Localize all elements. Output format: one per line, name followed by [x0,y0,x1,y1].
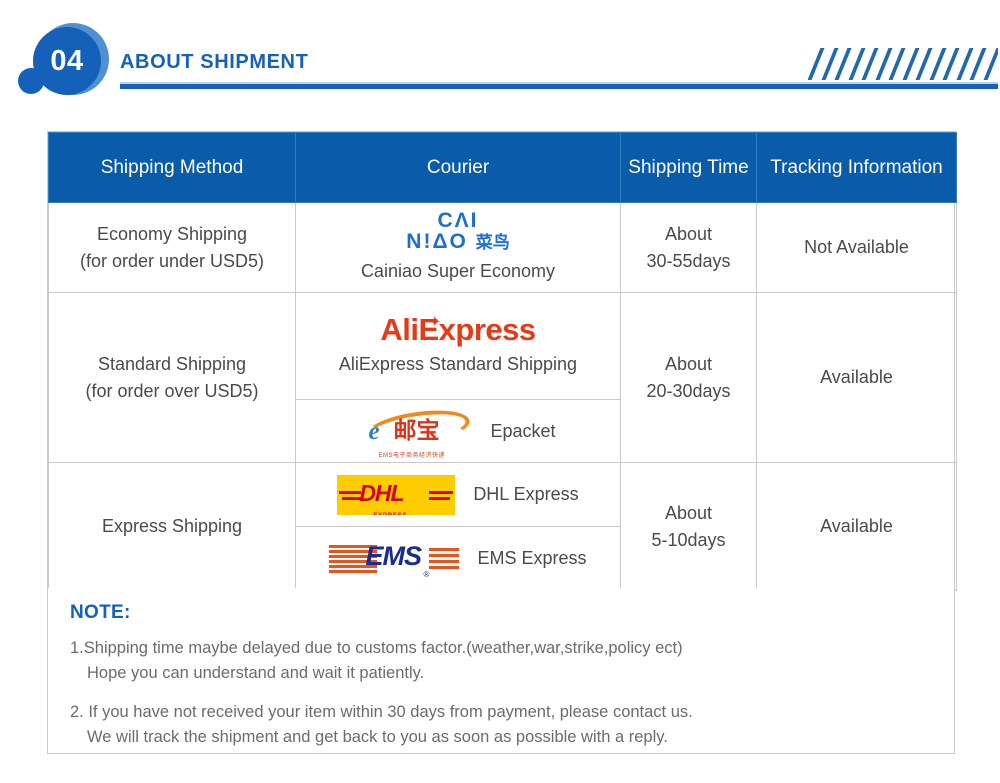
time-line2: 20-30days [621,378,756,405]
column-header-shipping-time: Shipping Time [621,133,757,203]
method-line1: Express Shipping [49,513,295,540]
courier-name: Epacket [490,418,555,445]
column-header-line2: Time [707,157,749,178]
tracking-status: Not Available [804,237,909,257]
header-rule [120,84,998,89]
ems-speedbars [429,548,459,570]
cell-courier: e 邮宝 EMS电子商务经济快递 Epacket [296,400,621,463]
aliexpress-logo-text: AliExpress [380,312,535,347]
note-item-line2: Hope you can understand and wait it pati… [70,661,934,686]
cainiao-logo-line2: N!ΔO 菜鸟 [406,231,509,252]
cainiao-logo-line1: CΛI [406,210,509,231]
note-item: 1.Shipping time maybe delayed due to cus… [70,636,934,686]
courier-name: AliExpress Standard Shipping [339,351,577,378]
courier-entry: DHL EXPRESS DHL Express [296,475,620,515]
cell-courier: DHL EXPRESS DHL Express [296,463,621,527]
column-header-label: Courier [427,157,489,178]
column-header-tracking-information: Tracking Information [757,133,957,203]
cell-shipping-time: About 20-30days [621,293,757,463]
page-title: ABOUT SHIPMENT [120,51,308,74]
courier-entry: EMS ® EMS Express [296,539,620,579]
column-header-line2: Information [848,157,943,178]
aliexpress-logo: ✦ AliExpress [380,314,535,347]
method-line2: (for order under USD5) [49,248,295,275]
note-item-line2: We will track the shipment and get back … [70,725,934,750]
tracking-status: Available [820,367,893,387]
cell-shipping-time: About 30-55days [621,203,757,293]
column-header-courier: Courier [296,133,621,203]
column-header-label: Shipping Method [101,157,244,178]
epacket-e-mark: e [368,418,379,445]
aliexpress-spark-icon: ✦ [429,315,439,328]
ems-logo: EMS ® [329,539,459,579]
column-header-line1: Shipping [628,157,702,178]
badge-inner-circle: 04 [33,27,101,95]
courier-entry: ✦ AliExpress AliExpress Standard Shippin… [296,314,620,378]
method-line2: (for order over USD5) [49,378,295,405]
ems-logo-text: EMS [365,543,421,570]
cell-shipping-method: Economy Shipping (for order under USD5) [49,203,296,293]
cell-shipping-method: Standard Shipping (for order over USD5) [49,293,296,463]
cell-tracking-information: Not Available [757,203,957,293]
time-line1: About [621,500,756,527]
cell-courier: ✦ AliExpress AliExpress Standard Shippin… [296,293,621,400]
cainiao-logo-cn: 菜鸟 [476,233,510,252]
time-line1: About [621,351,756,378]
cell-courier: EMS ® EMS Express [296,527,621,591]
note-item-line1: 1.Shipping time maybe delayed due to cus… [70,639,683,657]
table-row: Express Shipping DHL EXPRESS DHL Express [49,463,957,527]
time-line1: About [621,221,756,248]
note-title: NOTE: [70,602,934,624]
cell-courier: CΛI N!ΔO 菜鸟 Cainiao Super Economy [296,203,621,293]
courier-entry: CΛI N!ΔO 菜鸟 Cainiao Super Economy [296,210,620,285]
courier-name: Cainiao Super Economy [361,258,555,285]
table-row: Standard Shipping (for order over USD5) … [49,293,957,400]
column-header-shipping-method: Shipping Method [49,133,296,203]
badge-number: 04 [50,47,83,76]
time-line2: 5-10days [621,527,756,554]
table-row: Economy Shipping (for order under USD5) … [49,203,957,293]
method-line1: Economy Shipping [49,221,295,248]
shipping-table: Shipping Method Courier Shipping Time Tr… [47,131,955,592]
epacket-logo-cn: 邮宝 [393,417,439,444]
dhl-speedline [339,491,361,494]
courier-entry: e 邮宝 EMS电子商务经济快递 Epacket [296,410,620,452]
decorative-stripes [808,48,998,80]
dhl-logo-subtext: EXPRESS [373,503,407,515]
time-line2: 30-55days [621,248,756,275]
epacket-tagline: EMS电子商务经济快递 [378,443,445,470]
page-header: 04 ABOUT SHIPMENT [0,0,1000,112]
column-header-line1: Tracking [770,157,842,178]
cell-tracking-information: Available [757,463,957,591]
epacket-logo: e 邮宝 EMS电子商务经济快递 [360,410,472,452]
cainiao-logo: CΛI N!ΔO 菜鸟 [406,210,509,252]
note-item: 2. If you have not received your item wi… [70,700,934,750]
dhl-speedline [429,491,453,494]
courier-name: EMS Express [477,545,586,572]
courier-name: DHL Express [473,481,578,508]
note-item-line1: 2. If you have not received your item wi… [70,703,693,721]
tracking-status: Available [820,516,893,536]
method-line1: Standard Shipping [49,351,295,378]
cell-shipping-time: About 5-10days [621,463,757,591]
dhl-logo: DHL EXPRESS [337,475,455,515]
table-header-row: Shipping Method Courier Shipping Time Tr… [49,133,957,203]
cell-shipping-method: Express Shipping [49,463,296,591]
dhl-speedline [429,497,450,500]
note-section: NOTE: 1.Shipping time maybe delayed due … [47,588,955,754]
cell-tracking-information: Available [757,293,957,463]
